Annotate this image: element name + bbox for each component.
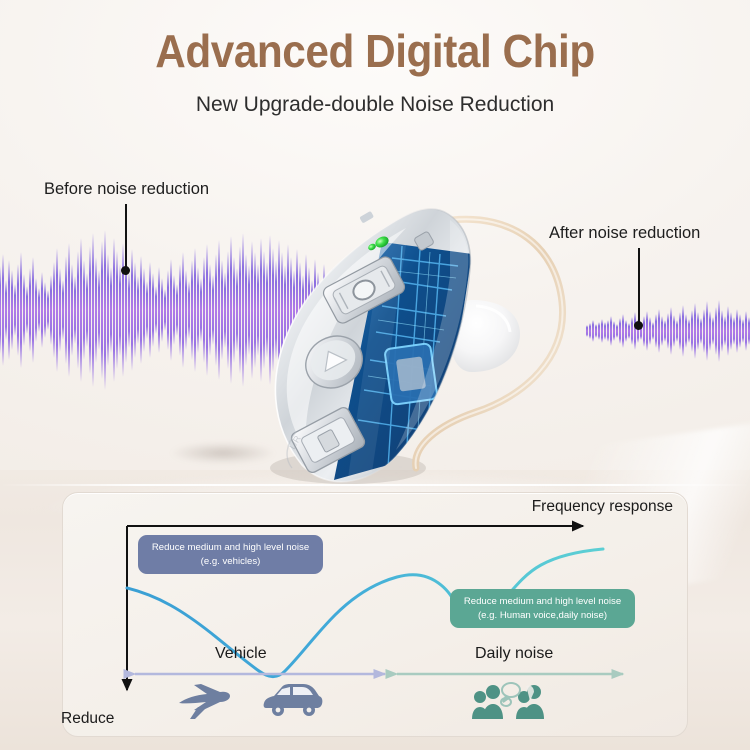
waveform-bar (77, 251, 79, 369)
waveform-bar (712, 317, 714, 346)
waveform-bar (739, 314, 741, 348)
waveform-bar (65, 256, 67, 365)
waveform-bar (697, 312, 699, 349)
segment-label-daily-noise: Daily noise (475, 645, 553, 663)
device-shadow (148, 438, 298, 468)
waveform-bar (95, 257, 97, 363)
segment-label-vehicle: Vehicle (215, 645, 267, 663)
axis-label-reduce: Reduce (61, 710, 114, 728)
leader-dot-after (634, 321, 643, 330)
waveform-bar (32, 257, 34, 363)
waveform-bar (682, 305, 684, 357)
waveform-bar (29, 268, 31, 351)
waveform-bar (50, 275, 52, 345)
waveform-bar (655, 314, 657, 348)
callout-daily-noise-line1: Reduce medium and high level noise (464, 596, 621, 607)
waveform-bar (733, 317, 735, 344)
waveform-bar (23, 274, 25, 346)
waveform-bar (8, 260, 10, 359)
waveform-bar (113, 238, 115, 382)
waveform-bar (676, 320, 678, 342)
waveform-bar (643, 316, 645, 347)
waveform-bar (730, 312, 732, 350)
waveform-bar (71, 264, 73, 357)
car-icon (262, 683, 324, 724)
waveform-bar (5, 280, 7, 341)
waveform-bar (703, 309, 705, 354)
waveform-bar (649, 317, 651, 344)
waveform-bar (745, 311, 747, 351)
waveform-bar (667, 313, 669, 349)
waveform-bar (35, 278, 37, 342)
waveform-bar (679, 312, 681, 350)
waveform-bar (101, 241, 103, 379)
waveform-bar (14, 284, 16, 337)
waveform-bar (673, 315, 675, 347)
waveform-bar (53, 262, 55, 358)
page-title: Advanced Digital Chip (30, 24, 720, 78)
people-talking-icon (472, 681, 544, 726)
waveform-bar (706, 301, 708, 361)
waveform-bar (17, 264, 19, 357)
waveform-bar (107, 254, 109, 366)
waveform-bar (664, 320, 666, 341)
waveform-bar (724, 316, 726, 346)
waveform-bar (26, 286, 28, 334)
leader-line-before (125, 204, 127, 270)
axis-label-frequency-response: Frequency response (532, 498, 673, 516)
callout-vehicles-line1: Reduce medium and high level noise (152, 542, 309, 553)
waveform-bar (62, 280, 64, 341)
waveform-bar (691, 310, 693, 352)
waveform-bar (44, 282, 46, 338)
waveform-bar (74, 276, 76, 343)
waveform-bar (38, 288, 40, 333)
waveform-bar (116, 251, 118, 369)
callout-vehicles-line2: (e.g. vehicles) (148, 555, 313, 569)
waveform-bar (709, 311, 711, 351)
waveform-bar (694, 303, 696, 359)
callout-vehicles: Reduce medium and high level noise (e.g.… (138, 535, 323, 574)
waveform-bar (700, 318, 702, 344)
waveform-bar (646, 311, 648, 352)
frequency-response-chart: Frequency response Reduce Reduce medium … (62, 492, 688, 737)
waveform-bar (661, 316, 663, 346)
waveform-bar (658, 309, 660, 354)
label-after-noise-reduction: After noise reduction (549, 224, 700, 243)
waveform-bar (685, 314, 687, 349)
waveform-bar (110, 267, 112, 353)
waveform-bar (715, 307, 717, 354)
waveform-bar (688, 319, 690, 344)
callout-daily-noise: Reduce medium and high level noise (e.g.… (450, 589, 635, 628)
waveform-bar (742, 319, 744, 343)
waveform-bar (727, 306, 729, 356)
waveform-bar (20, 252, 22, 367)
airplane-icon (176, 683, 232, 726)
leader-line-after (638, 248, 640, 325)
waveform-bar (736, 309, 738, 354)
callout-daily-noise-line2: (e.g. Human voice,daily noise) (460, 609, 625, 623)
waveform-bar (652, 322, 654, 341)
label-before-noise-reduction: Before noise reduction (44, 180, 209, 199)
poster-canvas: Advanced Digital Chip New Upgrade-double… (0, 0, 750, 750)
waveform-bar (47, 290, 49, 330)
waveform-bar (98, 270, 100, 350)
waveform-bar (0, 266, 1, 354)
waveform-bar (2, 254, 4, 366)
waveform-bar (721, 310, 723, 352)
waveform-bar (68, 243, 70, 377)
waveform-bar (80, 238, 82, 382)
waveform-bar (11, 270, 13, 350)
waveform-bar (670, 307, 672, 355)
waveform-bar (83, 260, 85, 359)
waveform-bar (86, 273, 88, 347)
waveform-bar (718, 300, 720, 362)
waveform-bar (104, 230, 106, 390)
page-subtitle: New Upgrade-double Noise Reduction (0, 90, 750, 120)
leader-dot-before (121, 266, 130, 275)
waveform-bar (89, 246, 91, 374)
waveform-bar (59, 268, 61, 351)
waveform-bar (56, 248, 58, 373)
waveform-bar (41, 272, 43, 349)
waveform-bar (92, 233, 94, 387)
